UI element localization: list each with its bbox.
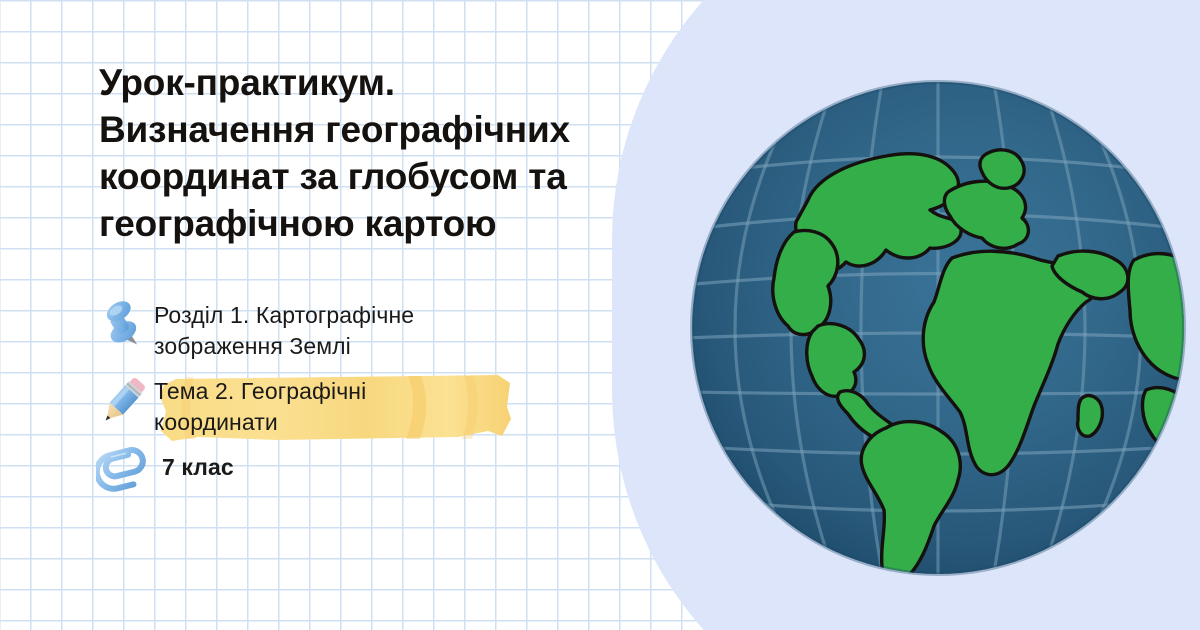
meta-list: Розділ 1. Картографічне зображення Землі: [96, 296, 596, 508]
list-item-label: Тема 2. Географічні координати: [154, 370, 484, 438]
list-item-grade: 7 клас: [96, 442, 596, 500]
slide-canvas: Урок-практикум. Визначення географічних …: [0, 0, 1200, 630]
page-title: Урок-практикум. Визначення географічних …: [99, 59, 609, 247]
list-item-label: Розділ 1. Картографічне зображення Землі: [154, 296, 484, 362]
list-item-topic: Тема 2. Географічні координати: [96, 370, 596, 438]
earth-globe-illustration: [690, 80, 1186, 576]
pencil-icon: [96, 370, 154, 428]
pushpin-icon: [96, 296, 154, 354]
paperclip-icon: [96, 442, 154, 500]
list-item-section: Розділ 1. Картографічне зображення Землі: [96, 296, 596, 362]
text-column: Урок-практикум. Визначення географічних …: [0, 0, 612, 630]
list-item-label: 7 клас: [154, 442, 234, 483]
